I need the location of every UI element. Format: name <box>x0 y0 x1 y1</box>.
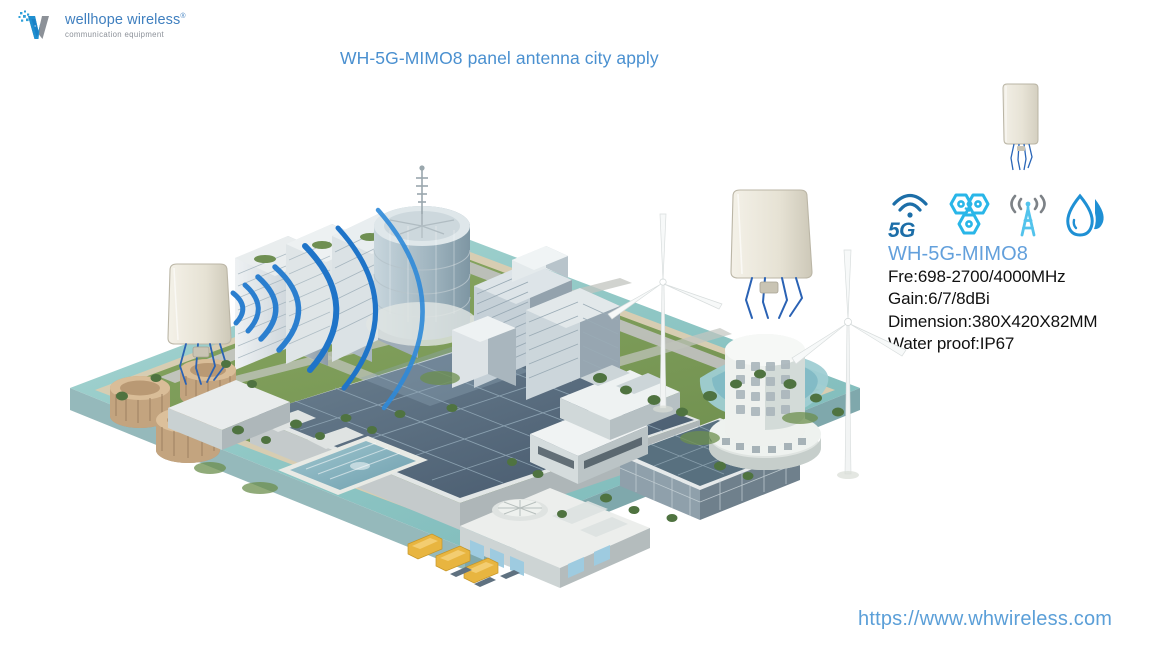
water-drop-icon <box>1061 191 1111 241</box>
spec-dimension: Dimension:380X420X82MM <box>888 311 1152 333</box>
hero-panel-antenna-image <box>990 82 1050 182</box>
isometric-smart-city-illustration <box>60 78 920 598</box>
panel-antenna-tower-mounted <box>731 190 812 318</box>
wellhope-w-logo-icon <box>18 10 58 42</box>
page-title: WH-5G-MIMO8 panel antenna city apply <box>340 48 659 69</box>
spec-waterproof: Water proof:IP67 <box>888 333 1152 355</box>
antenna-tower-icon <box>1002 191 1054 241</box>
product-spec-panel: 5G <box>888 185 1152 356</box>
iot-hexagon-icon <box>943 191 995 241</box>
website-url-link[interactable]: https://www.whwireless.com <box>858 608 1112 631</box>
brand-wordmark: wellhope wireless® communication equipme… <box>65 13 186 38</box>
product-model-label: WH-5G-MIMO8 <box>888 243 1152 266</box>
registered-mark: ® <box>180 14 185 21</box>
brand-name: wellhope wireless <box>65 12 180 28</box>
spec-frequency: Fre:698-2700/4000MHz <box>888 266 1152 288</box>
brand-tagline: communication equipment <box>65 31 186 39</box>
spec-gain: Gain:6/7/8dBi <box>888 288 1152 310</box>
brand-logo[interactable]: wellhope wireless® communication equipme… <box>18 8 193 44</box>
feature-icon-row: 5G <box>888 185 1152 241</box>
